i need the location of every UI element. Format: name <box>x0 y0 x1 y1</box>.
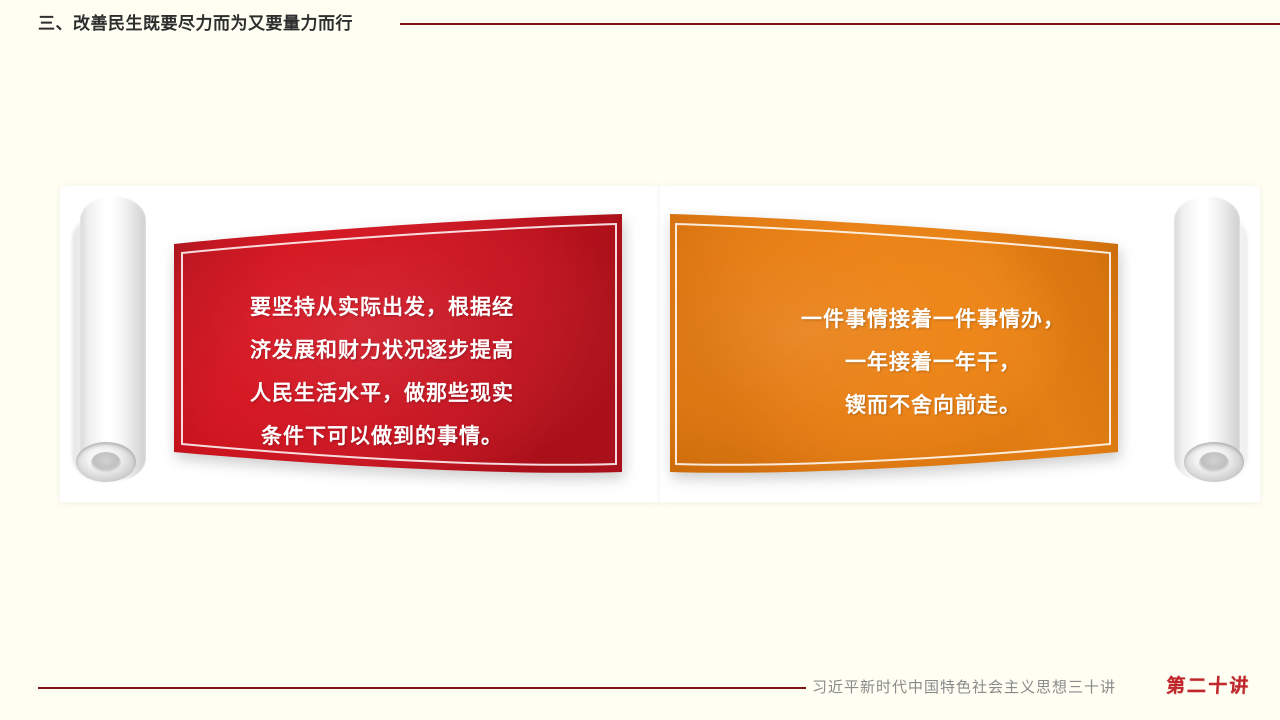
page-title: 三、改善民生既要尽力而为又要量力而行 <box>38 13 353 35</box>
quote-card-orange: 一件事情接着一件事情办， 一年接着一年干， 锲而不舍向前走。 <box>660 186 1260 502</box>
quote-line: 要坚持从实际出发，根据经 <box>172 286 592 329</box>
scroll-roll-orange <box>1174 196 1248 486</box>
roll-tube <box>80 196 146 482</box>
scroll-roll-red <box>72 196 146 486</box>
footer-divider-line <box>38 687 806 689</box>
footer-series-title: 习近平新时代中国特色社会主义思想三十讲 <box>812 678 1116 698</box>
quote-line: 锲而不舍向前走。 <box>708 384 1158 427</box>
quote-text-orange: 一件事情接着一件事情办， 一年接着一年干， 锲而不舍向前走。 <box>708 298 1158 427</box>
slide-root: 三、改善民生既要尽力而为又要量力而行 <box>0 0 1280 720</box>
quote-line: 条件下可以做到的事情。 <box>172 415 592 458</box>
quote-text-red: 要坚持从实际出发，根据经 济发展和财力状况逐步提高 人民生活水平，做那些现实 条… <box>172 286 592 458</box>
roll-opening-inner <box>1199 452 1229 473</box>
roll-opening-inner <box>91 452 121 473</box>
quote-line: 一件事情接着一件事情办， <box>708 298 1158 341</box>
quote-line: 人民生活水平，做那些现实 <box>172 372 592 415</box>
slide-footer: 习近平新时代中国特色社会主义思想三十讲 第二十讲 <box>0 660 1280 720</box>
quote-card-red: 要坚持从实际出发，根据经 济发展和财力状况逐步提高 人民生活水平，做那些现实 条… <box>60 186 660 502</box>
quote-line: 济发展和财力状况逐步提高 <box>172 329 592 372</box>
footer-lecture-label: 第二十讲 <box>1165 674 1251 700</box>
scroll-graphic-orange: 一件事情接着一件事情办， 一年接着一年干， 锲而不舍向前走。 <box>660 186 1260 502</box>
slide-header: 三、改善民生既要尽力而为又要量力而行 <box>0 0 1280 50</box>
scroll-graphic-red: 要坚持从实际出发，根据经 济发展和财力状况逐步提高 人民生活水平，做那些现实 条… <box>60 186 660 502</box>
roll-tube <box>1174 196 1240 482</box>
quote-cards-area: 要坚持从实际出发，根据经 济发展和财力状况逐步提高 人民生活水平，做那些现实 条… <box>0 170 1280 520</box>
quote-line: 一年接着一年干， <box>708 341 1158 384</box>
header-divider-line <box>400 23 1280 25</box>
